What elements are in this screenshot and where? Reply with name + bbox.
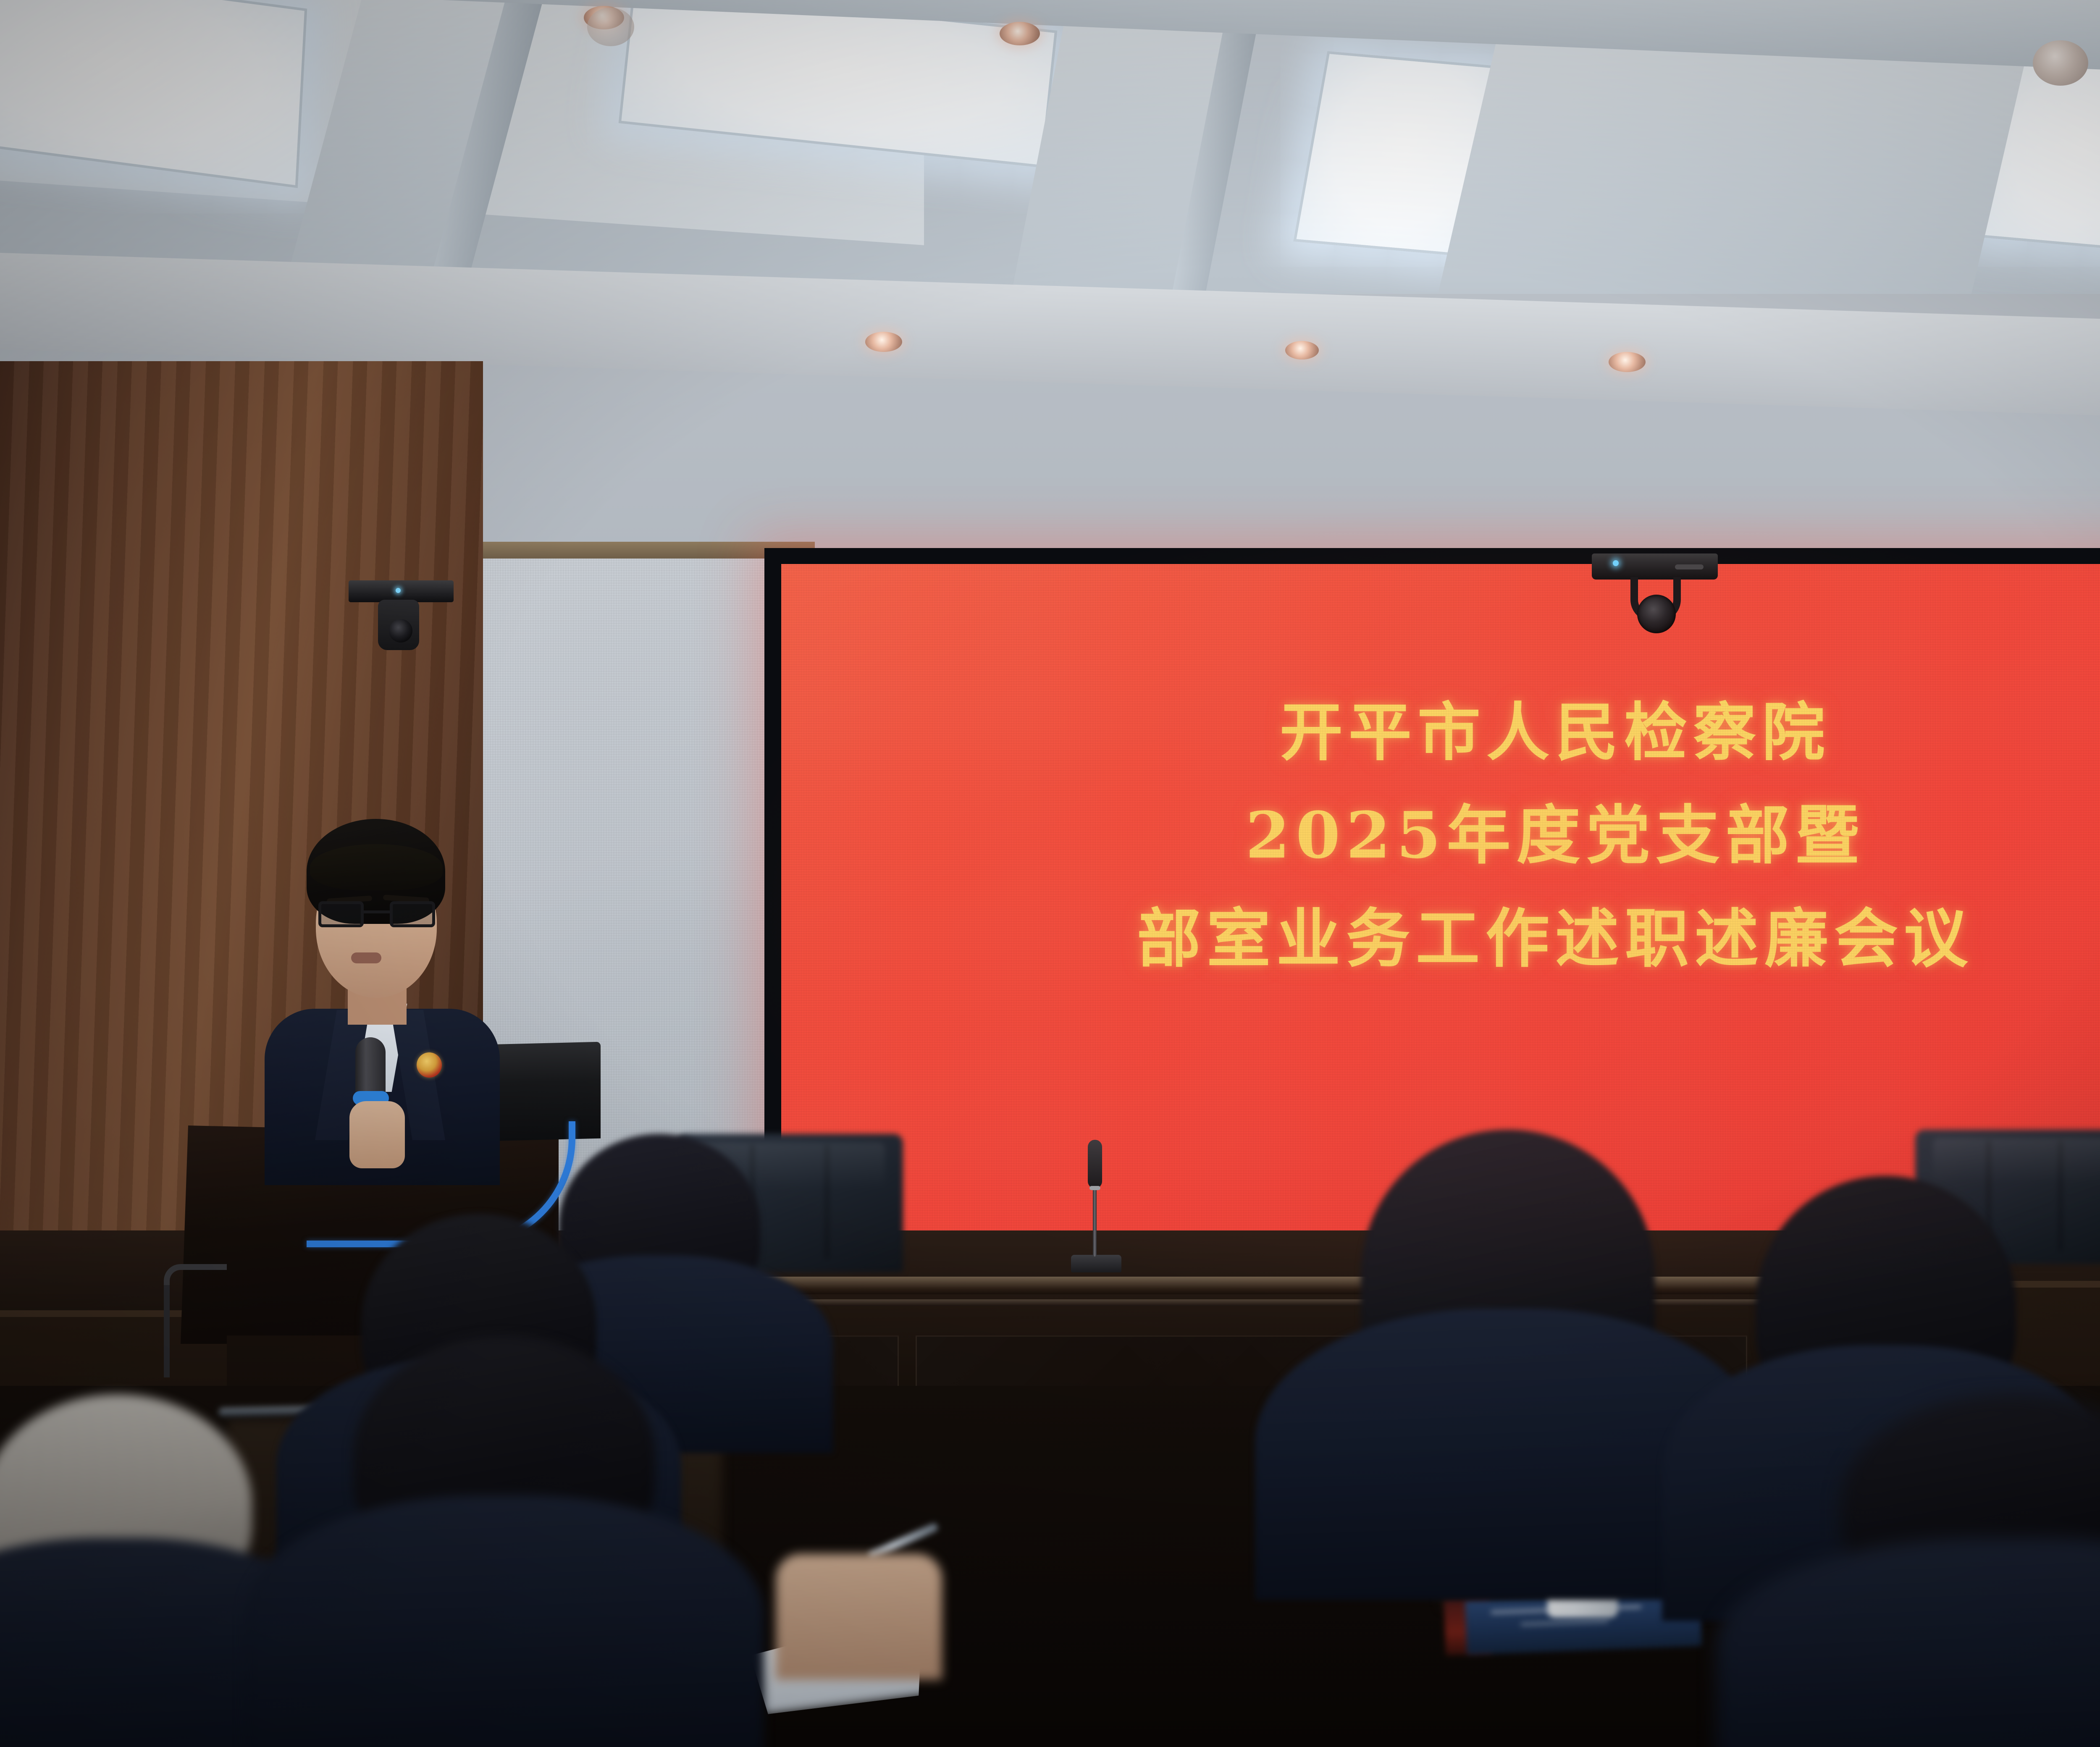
smoke-detector-icon: [2033, 40, 2088, 86]
speaker-presenter: [252, 819, 512, 1180]
conference-room-photo: 开平市人民检察院 2025年度党支部暨 部室业务工作述职述廉会议: [0, 0, 2100, 1747]
microphone-stand: [164, 1264, 227, 1369]
led-text-line-2: 2025年度党支部暨: [781, 784, 2100, 887]
downlight-icon: [1000, 22, 1040, 45]
led-text-line-3: 部室业务工作述职述廉会议: [781, 887, 2100, 990]
downlight-icon: [1609, 352, 1646, 372]
speaker-hand: [349, 1101, 405, 1168]
audience-member: [1840, 1394, 2100, 1747]
gooseneck-microphone: [1071, 1134, 1126, 1272]
led-screen-text: 开平市人民检察院 2025年度党支部暨 部室业务工作述职述廉会议: [781, 682, 2100, 990]
audience-hand: [811, 1554, 907, 1680]
audience-member: [353, 1335, 655, 1747]
downlight-icon: [865, 332, 902, 352]
audience-member: [0, 1394, 252, 1747]
audience-member: [1361, 1130, 1655, 1600]
led-text-line-1: 开平市人民检察院: [781, 682, 2100, 784]
smoke-detector-icon: [587, 8, 634, 46]
wall-camera-icon: [349, 580, 454, 654]
procuratorate-badge: [417, 1052, 442, 1078]
eyeglasses-icon: [318, 901, 435, 929]
downlight-icon: [1285, 341, 1319, 359]
ptz-camera-icon: [1592, 553, 1718, 642]
